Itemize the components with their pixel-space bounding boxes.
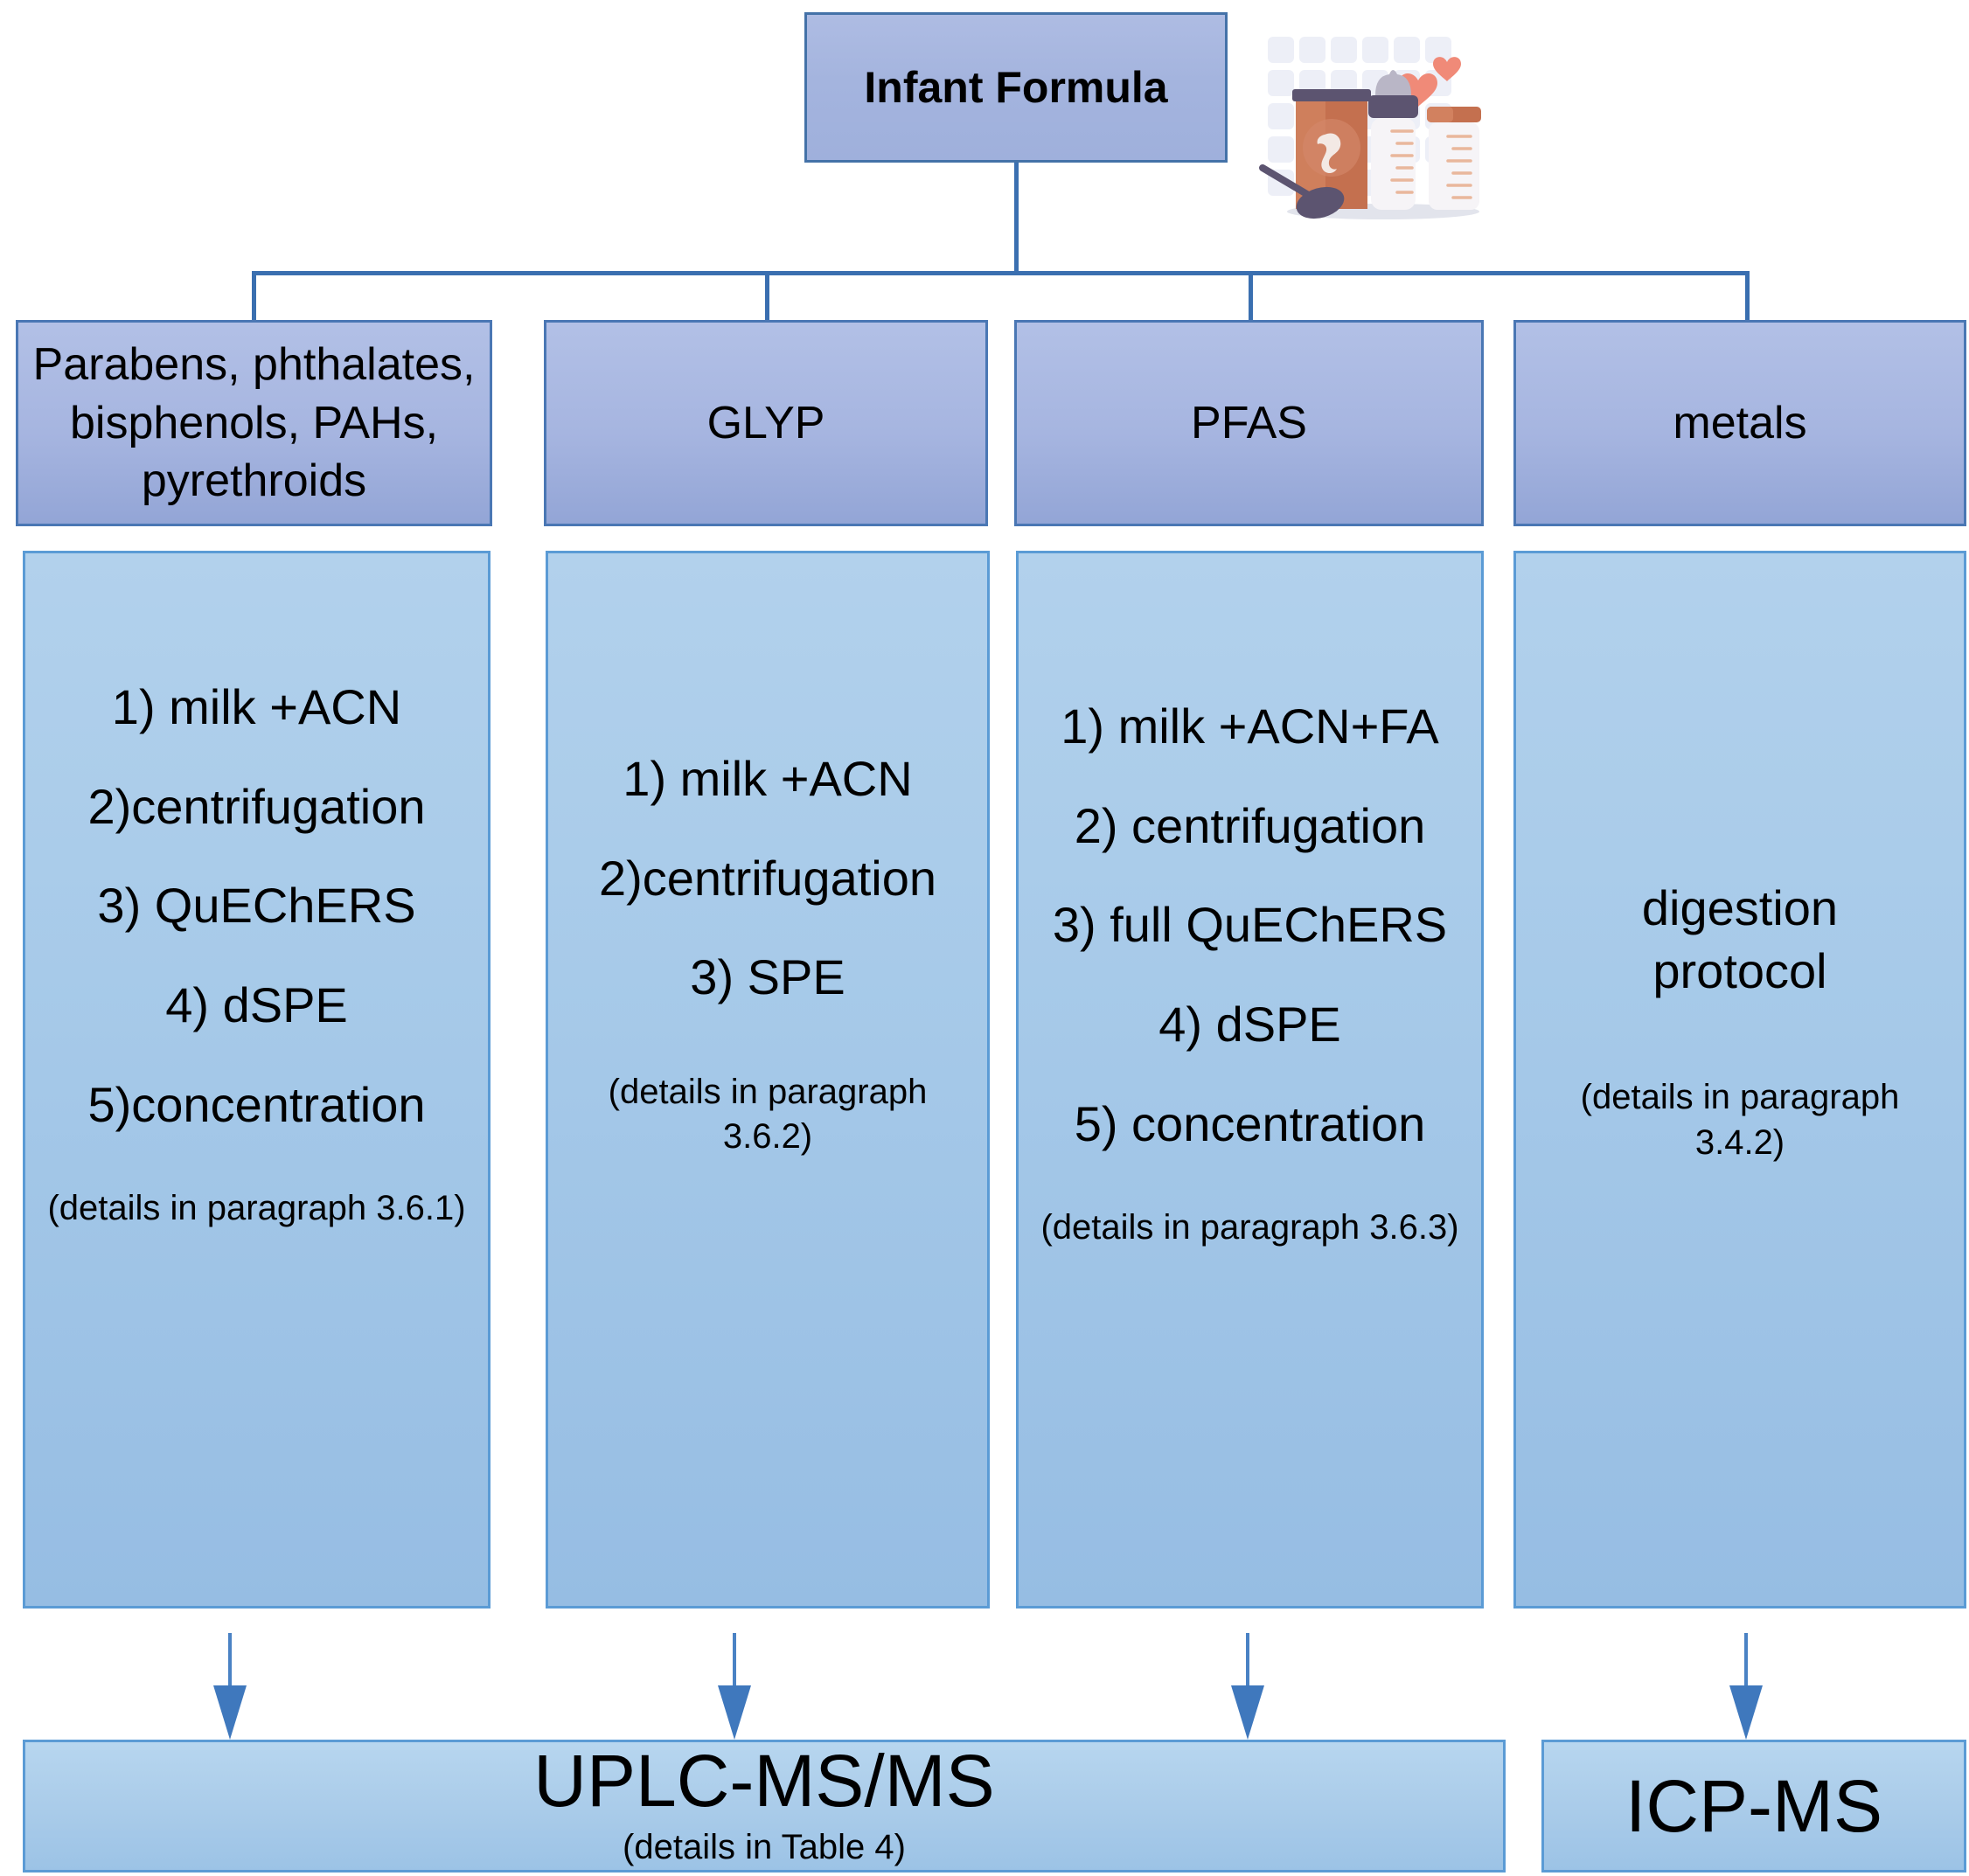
infant-formula-illustration — [1243, 12, 1499, 241]
arrow-down-pfas — [1231, 1633, 1264, 1740]
protocol-step: 5) concentration — [1075, 1093, 1426, 1156]
output-box-uplc: UPLC-MS/MS (details in Table 4) — [23, 1740, 1506, 1873]
connector-horizontal-bus — [252, 271, 1749, 275]
protocol-step: 3) SPE — [690, 946, 845, 1009]
protocol-step: 2) centrifugation — [1075, 795, 1426, 858]
protocol-note: (details in paragraph 3.4.2) — [1532, 1075, 1948, 1164]
protocol-step: 3) QuEChERS — [97, 874, 415, 937]
flowchart-canvas: Infant Formula — [0, 0, 1969, 1876]
connector-drop-glyp — [765, 271, 769, 322]
protocol-note: (details in paragraph 3.6.2) — [564, 1070, 971, 1159]
protocol-step: 3) full QuEChERS — [1053, 893, 1447, 956]
protocol-note: (details in paragraph 3.6.3) — [1040, 1206, 1458, 1250]
protocol-step: 4) dSPE — [165, 974, 348, 1037]
connector-drop-pfas — [1249, 271, 1253, 322]
protocol-step: 1) milk +ACN — [112, 676, 401, 739]
protocol-box-pfas: 1) milk +ACN+FA 2) centrifugation 3) ful… — [1016, 551, 1484, 1608]
category-box-organics: Parabens, phthalates, bisphenols, PAHs, … — [16, 320, 492, 526]
protocol-step: 1) milk +ACN+FA — [1061, 695, 1439, 758]
output-title: UPLC-MS/MS — [533, 1742, 994, 1819]
connector-root-stem — [1014, 163, 1019, 274]
category-label: GLYP — [707, 394, 825, 453]
category-box-glyp: GLYP — [544, 320, 988, 526]
protocol-box-metals: digestion protocol (details in paragraph… — [1513, 551, 1966, 1608]
protocol-step: 1) milk +ACN — [623, 747, 912, 810]
protocol-box-organics: 1) milk +ACN 2)centrifugation 3) QuEChER… — [23, 551, 491, 1608]
category-label: PFAS — [1191, 394, 1307, 453]
category-label: metals — [1673, 394, 1806, 453]
root-node-label: Infant Formula — [864, 59, 1167, 115]
protocol-step: 2)centrifugation — [87, 775, 425, 838]
category-box-metals: metals — [1513, 320, 1966, 526]
protocol-note: (details in paragraph 3.6.1) — [47, 1186, 465, 1231]
protocol-step: 5)concentration — [87, 1073, 425, 1136]
protocol-step: 2)centrifugation — [599, 847, 936, 910]
connector-drop-organics — [252, 271, 256, 322]
protocol-step: 4) dSPE — [1158, 993, 1341, 1056]
output-note: (details in Table 4) — [623, 1825, 906, 1870]
connector-drop-metals — [1745, 271, 1750, 322]
output-box-icp: ICP-MS — [1541, 1740, 1966, 1873]
root-node-infant-formula: Infant Formula — [804, 12, 1228, 163]
protocol-step: digestion — [1642, 877, 1838, 940]
output-title: ICP-MS — [1625, 1768, 1882, 1845]
category-label: Parabens, phthalates, bisphenols, PAHs, … — [32, 336, 476, 511]
arrow-down-organics — [213, 1633, 247, 1740]
arrow-down-metals — [1729, 1633, 1763, 1740]
category-box-pfas: PFAS — [1014, 320, 1484, 526]
protocol-box-glyp: 1) milk +ACN 2)centrifugation 3) SPE (de… — [546, 551, 990, 1608]
protocol-step: protocol — [1652, 940, 1826, 1003]
arrow-down-glyp — [718, 1633, 751, 1740]
